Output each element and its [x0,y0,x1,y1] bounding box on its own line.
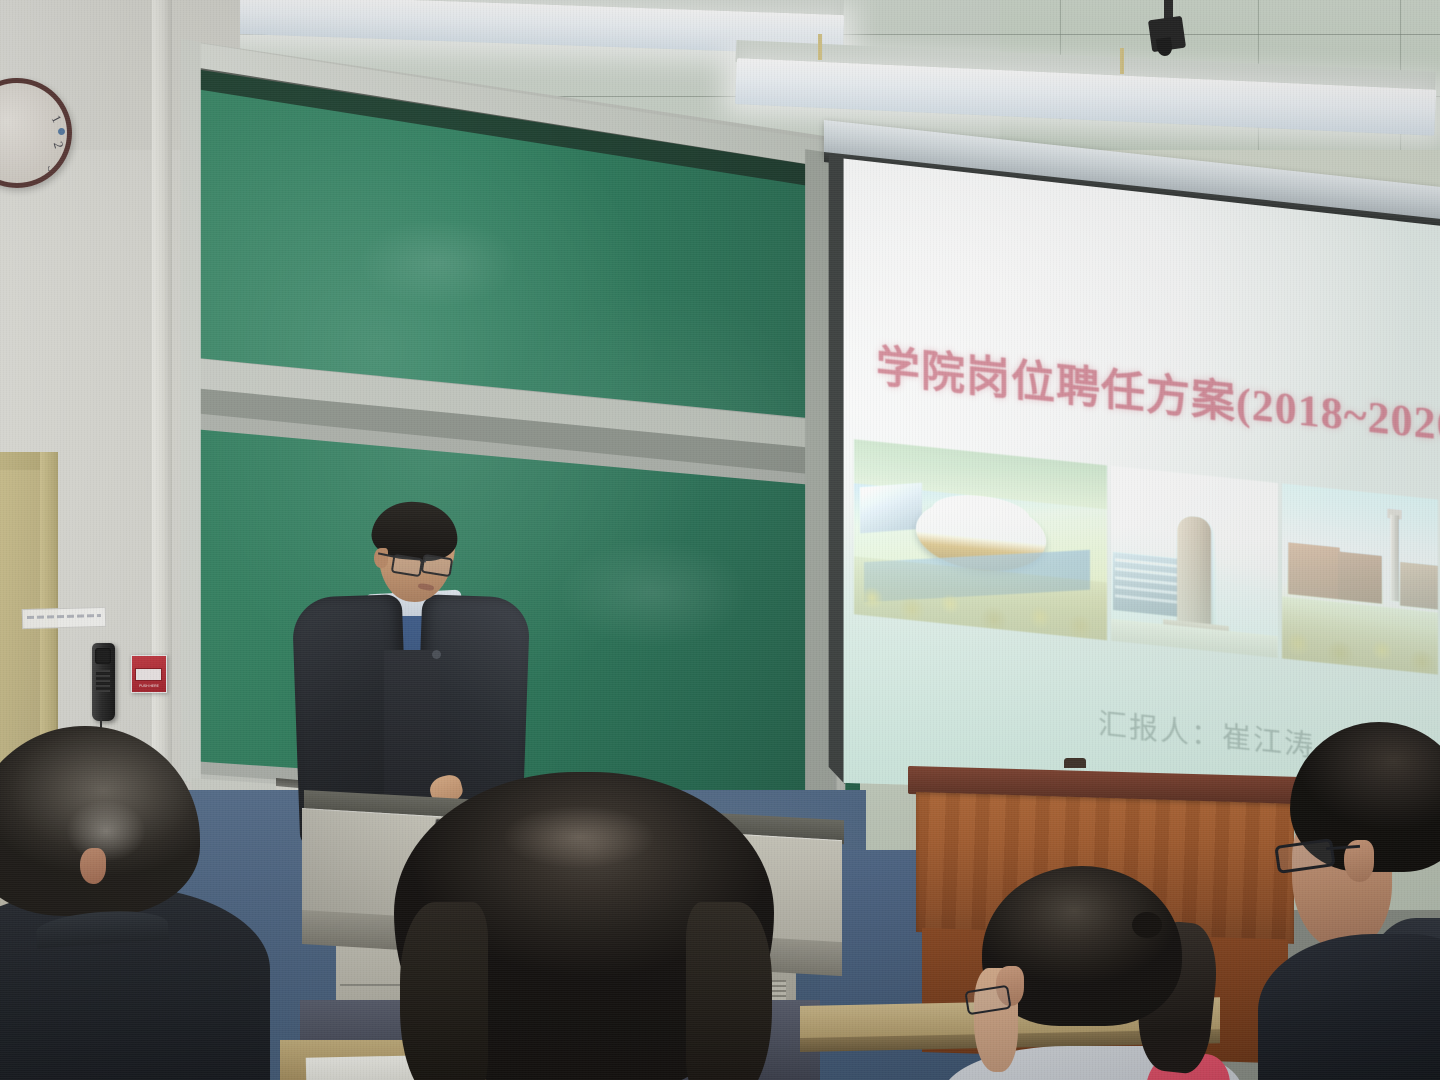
photo-stone-stele [1177,515,1211,631]
presenter-ear [374,548,388,568]
presenter-jacket-zip [432,650,441,659]
photo-building [1288,542,1340,599]
audience-ponytail-hair-tie [1132,912,1162,938]
clock-center-dot [58,128,65,135]
audience-member-right [1268,722,1440,1080]
light-clip [1120,48,1124,74]
clock-numeral: 2 [50,140,67,151]
fire-alarm-bottom-label: PUSH HERE [134,683,164,689]
clock-numeral: 3 [44,165,60,173]
lecture-hall-photo: 1 2 3 4 5 FIRE ALARM PUSH HERE 西安 [0,0,1440,1080]
audience-member-ponytail [962,860,1252,1080]
fire-alarm-window [135,668,162,681]
audience-center-hair-highlight [504,806,654,868]
audience-center-hair-strand-left [400,902,488,1080]
slide-title: 学院岗位聘任方案(2018~2020)汇报 [876,330,1440,454]
clock-numeral: 1 [48,112,65,125]
audience-left-grey-hair [66,800,146,862]
photo-tower [1390,515,1399,602]
telephone-keypad[interactable] [96,670,110,692]
photo-building [860,483,922,534]
lectern-knob [1064,758,1086,768]
photo-building-windows [1115,558,1181,609]
audience-member-center [394,772,774,1080]
slide-photo-strip [854,439,1438,674]
telephone-earpiece [95,648,111,664]
photo-building [1338,551,1382,604]
slide-photo-stone-stele-monument [1111,466,1278,658]
slide-photo-aerial-campus-dome [854,439,1107,640]
slide-content: 学院岗位聘任方案(2018~2020)汇报 [820,140,1440,800]
photo-autumn-trees [1282,596,1438,674]
audience-member-left [0,726,300,1080]
audience-left-ear [80,848,106,884]
slide-photo-campus-buildings-tower [1282,483,1438,674]
wall-notice-label [22,607,107,629]
wall-notice-text-lines [27,614,101,619]
audience-center-hair-strand-right [686,902,772,1080]
audience-right-shoulders [1258,934,1440,1080]
photo-building [1400,562,1438,610]
